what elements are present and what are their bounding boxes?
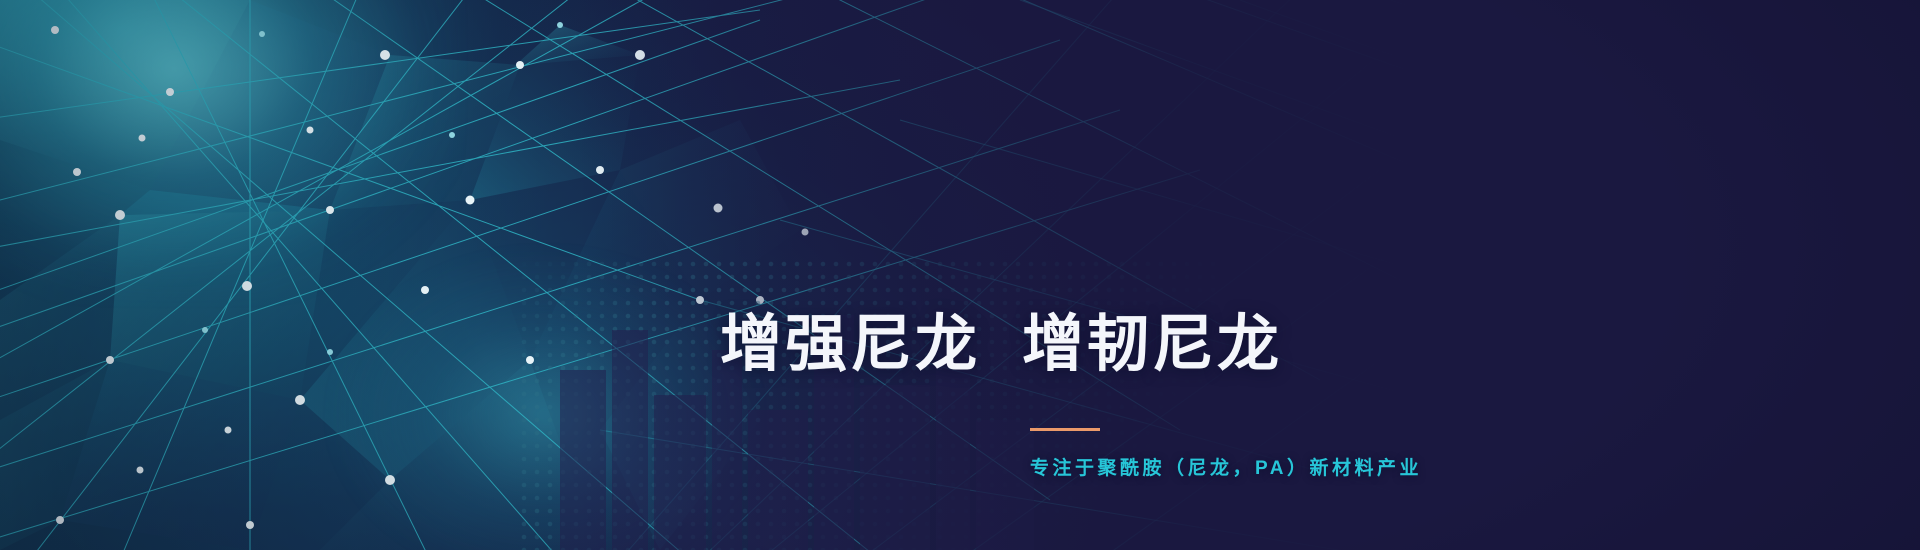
hero-banner: 增强尼龙增韧尼龙 阻燃尼龙耐磨尼龙 专注于聚酰胺（尼龙，PA）新材料产业 [0, 0, 1920, 550]
headline: 增强尼龙增韧尼龙 阻燃尼龙耐磨尼龙 [720, 130, 1282, 550]
tagline-text: 专注于聚酰胺（尼龙，PA）新材料产业 [1030, 453, 1550, 480]
headline-line-1-part-2: 增韧尼龙 [1022, 310, 1282, 379]
headline-line-1: 增强尼龙增韧尼龙 [720, 302, 1282, 388]
tagline-divider-rule [1030, 428, 1100, 431]
headline-line-1-part-1: 增强尼龙 [720, 310, 980, 379]
tagline-block: 专注于聚酰胺（尼龙，PA）新材料产业 [1030, 428, 1550, 480]
banner-content: 增强尼龙增韧尼龙 阻燃尼龙耐磨尼龙 专注于聚酰胺（尼龙，PA）新材料产业 [720, 0, 1820, 550]
